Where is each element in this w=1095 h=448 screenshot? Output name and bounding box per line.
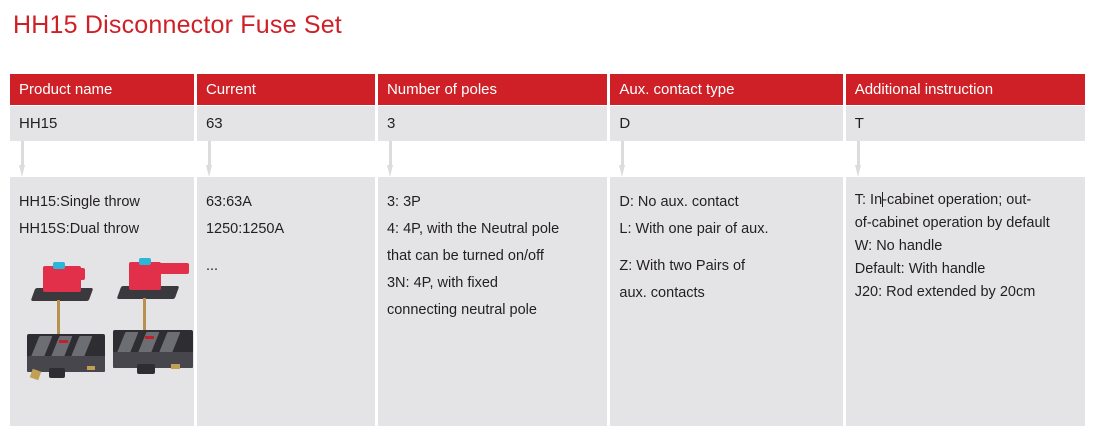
page-title: HH15 Disconnector Fuse Set xyxy=(13,8,342,42)
arrow-cell-number-of-poles xyxy=(378,141,607,177)
arrow-down-icon xyxy=(387,141,394,177)
detail-line: HH15S:Dual throw xyxy=(19,216,186,243)
table-header-row: Product name Current Number of poles Aux… xyxy=(10,74,1085,105)
detail-line: connecting neutral pole xyxy=(387,297,599,324)
detail-line: ... xyxy=(206,253,367,280)
value-current: 63 xyxy=(197,106,375,141)
table-arrow-row xyxy=(10,141,1085,177)
detail-line: 4: 4P, with the Neutral pole xyxy=(387,216,599,243)
detail-spacer xyxy=(206,243,367,253)
value-aux-contact-type: D xyxy=(610,106,842,141)
disconnector-switch-single-throw-image xyxy=(25,254,109,384)
table-detail-row: HH15:Single throw HH15S:Dual throw xyxy=(10,177,1085,426)
arrow-down-icon xyxy=(619,141,626,177)
detail-cell-current: 63:63A 1250:1250A ... xyxy=(197,177,375,426)
detail-line: HH15:Single throw xyxy=(19,189,186,216)
detail-line: J20: Rod extended by 20cm xyxy=(855,281,1077,304)
product-image-group xyxy=(21,250,194,380)
disconnector-switch-dual-throw-image xyxy=(111,250,194,380)
value-additional-instruction: T xyxy=(846,106,1085,141)
arrow-cell-product-name xyxy=(10,141,194,177)
detail-line: 63:63A xyxy=(206,189,367,216)
arrow-down-icon xyxy=(855,141,862,177)
detail-cell-product-name: HH15:Single throw HH15S:Dual throw xyxy=(10,177,194,426)
detail-line: W: No handle xyxy=(855,235,1077,258)
value-number-of-poles: 3 xyxy=(378,106,607,141)
detail-line: D: No aux. contact xyxy=(619,189,834,216)
detail-line: Z: With two Pairs of xyxy=(619,253,834,280)
detail-line-with-caret: T: In-cabinet operation; out- xyxy=(855,189,1077,212)
detail-line: 3N: 4P, with fixed xyxy=(387,270,599,297)
arrow-cell-aux-contact-type xyxy=(610,141,842,177)
detail-line-part-before-caret: T: In xyxy=(855,192,882,208)
detail-line: Default: With handle xyxy=(855,258,1077,281)
detail-spacer xyxy=(619,243,834,253)
detail-line: that can be turned on/off xyxy=(387,243,599,270)
detail-line: 1250:1250A xyxy=(206,216,367,243)
column-header-current: Current xyxy=(197,74,375,105)
column-header-number-of-poles: Number of poles xyxy=(378,74,607,105)
detail-cell-additional-instruction: T: In-cabinet operation; out- of-cabinet… xyxy=(846,177,1085,426)
detail-line: L: With one pair of aux. xyxy=(619,216,834,243)
column-header-additional-instruction: Additional instruction xyxy=(846,74,1085,105)
arrow-down-icon xyxy=(19,141,26,177)
arrow-cell-current xyxy=(197,141,375,177)
detail-cell-aux-contact-type: D: No aux. contact L: With one pair of a… xyxy=(610,177,842,426)
specification-table: Product name Current Number of poles Aux… xyxy=(10,74,1085,426)
arrow-down-icon xyxy=(206,141,213,177)
detail-line: of-cabinet operation by default xyxy=(855,212,1077,235)
arrow-cell-additional-instruction xyxy=(846,141,1085,177)
detail-line: aux. contacts xyxy=(619,280,834,307)
table-value-row: HH15 63 3 D T xyxy=(10,106,1085,141)
column-header-product-name: Product name xyxy=(10,74,194,105)
column-header-aux-contact-type: Aux. contact type xyxy=(610,74,842,105)
value-product-name: HH15 xyxy=(10,106,194,141)
detail-line-part-after-caret: -cabinet operation; out- xyxy=(882,192,1031,208)
detail-line: 3: 3P xyxy=(387,189,599,216)
detail-cell-number-of-poles: 3: 3P 4: 4P, with the Neutral pole that … xyxy=(378,177,607,426)
